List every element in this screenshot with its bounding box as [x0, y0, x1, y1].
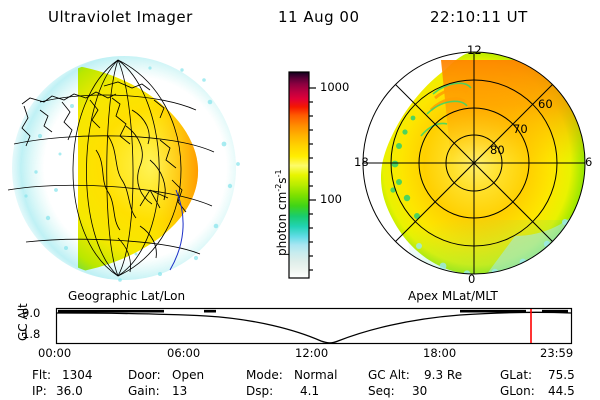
colorbar-axis-s: s [275, 177, 289, 183]
status-value-ip: 36.0 [56, 384, 83, 398]
header-time: 22:10:11 UT [430, 8, 528, 26]
mlat-ring-label-80: 80 [490, 143, 505, 157]
status-key-seq: Seq: [368, 384, 395, 398]
mlt-label-dusk: 18 [354, 155, 369, 169]
mlt-label-noon: 12 [467, 43, 482, 57]
mlt-label-midnight: 0 [468, 272, 475, 286]
colorbar-tick-label-low: 100 [320, 192, 342, 206]
status-value-door: Open [172, 368, 204, 382]
status-value-glat: 75.5 [548, 368, 575, 382]
colorbar-tick-label-high: 1000 [320, 80, 349, 94]
apex-polar-panel[interactable] [355, 40, 600, 290]
orbit-altitude-plot[interactable] [56, 308, 572, 344]
mlt-label-dawn: 6 [585, 155, 592, 169]
status-key-glon: GLon: [500, 384, 535, 398]
header-instrument-title: Ultraviolet Imager [48, 8, 193, 26]
status-key-glat: GLat: [500, 368, 532, 382]
orbit-x-tick-3: 18:00 [423, 346, 456, 360]
status-key-door: Door: [128, 368, 161, 382]
geographic-image-panel[interactable] [0, 40, 250, 290]
header-date: 11 Aug 00 [278, 8, 360, 26]
status-key-ip: IP: [32, 384, 47, 398]
status-value-glon: 44.5 [548, 384, 575, 398]
status-row-1: Flt: 1304 Door: Open Mode: Normal GC Alt… [0, 368, 600, 384]
status-value-gain: 13 [172, 384, 187, 398]
right-panel-caption: Apex MLat/MLT [408, 289, 498, 303]
orbit-x-tick-4: 23:59 [540, 346, 573, 360]
mlat-ring-label-60: 60 [538, 97, 553, 111]
status-key-gcalt: GC Alt: [368, 368, 410, 382]
colorbar-axis-exp2: -1 [274, 169, 283, 177]
status-value-gcalt: 9.3 Re [424, 368, 462, 382]
colorbar-axis-exp1: -2 [274, 184, 283, 192]
status-value-dsp: 4.1 [300, 384, 319, 398]
status-value-mode: Normal [294, 368, 337, 382]
orbit-y-tick-low: 1.8 [22, 327, 40, 341]
status-key-dsp: Dsp: [246, 384, 273, 398]
left-panel-caption: Geographic Lat/Lon [68, 289, 185, 303]
colorbar-ticks [309, 72, 321, 278]
status-value-seq: 30 [412, 384, 427, 398]
orbit-x-tick-0: 00:00 [38, 346, 71, 360]
status-key-gain: Gain: [128, 384, 160, 398]
orbit-x-tick-1: 06:00 [167, 346, 200, 360]
orbit-x-tick-2: 12:00 [295, 346, 328, 360]
status-key-flt: Flt: [32, 368, 51, 382]
colorbar-axis-title-text: photon cm [275, 192, 289, 256]
status-value-flt: 1304 [62, 368, 93, 382]
colorbar [289, 72, 309, 278]
mlat-ring-label-70: 70 [513, 122, 528, 136]
colorbar-axis-title: photon cm-2s-1 [274, 169, 289, 256]
orbit-y-tick-high: 9.0 [22, 306, 40, 320]
polar-grid [363, 52, 585, 274]
status-row-2: IP: 36.0 Gain: 13 Dsp: 4.1 Seq: 30 GLon:… [0, 384, 600, 400]
status-key-mode: Mode: [246, 368, 283, 382]
auroral-oval-fill [381, 52, 600, 290]
